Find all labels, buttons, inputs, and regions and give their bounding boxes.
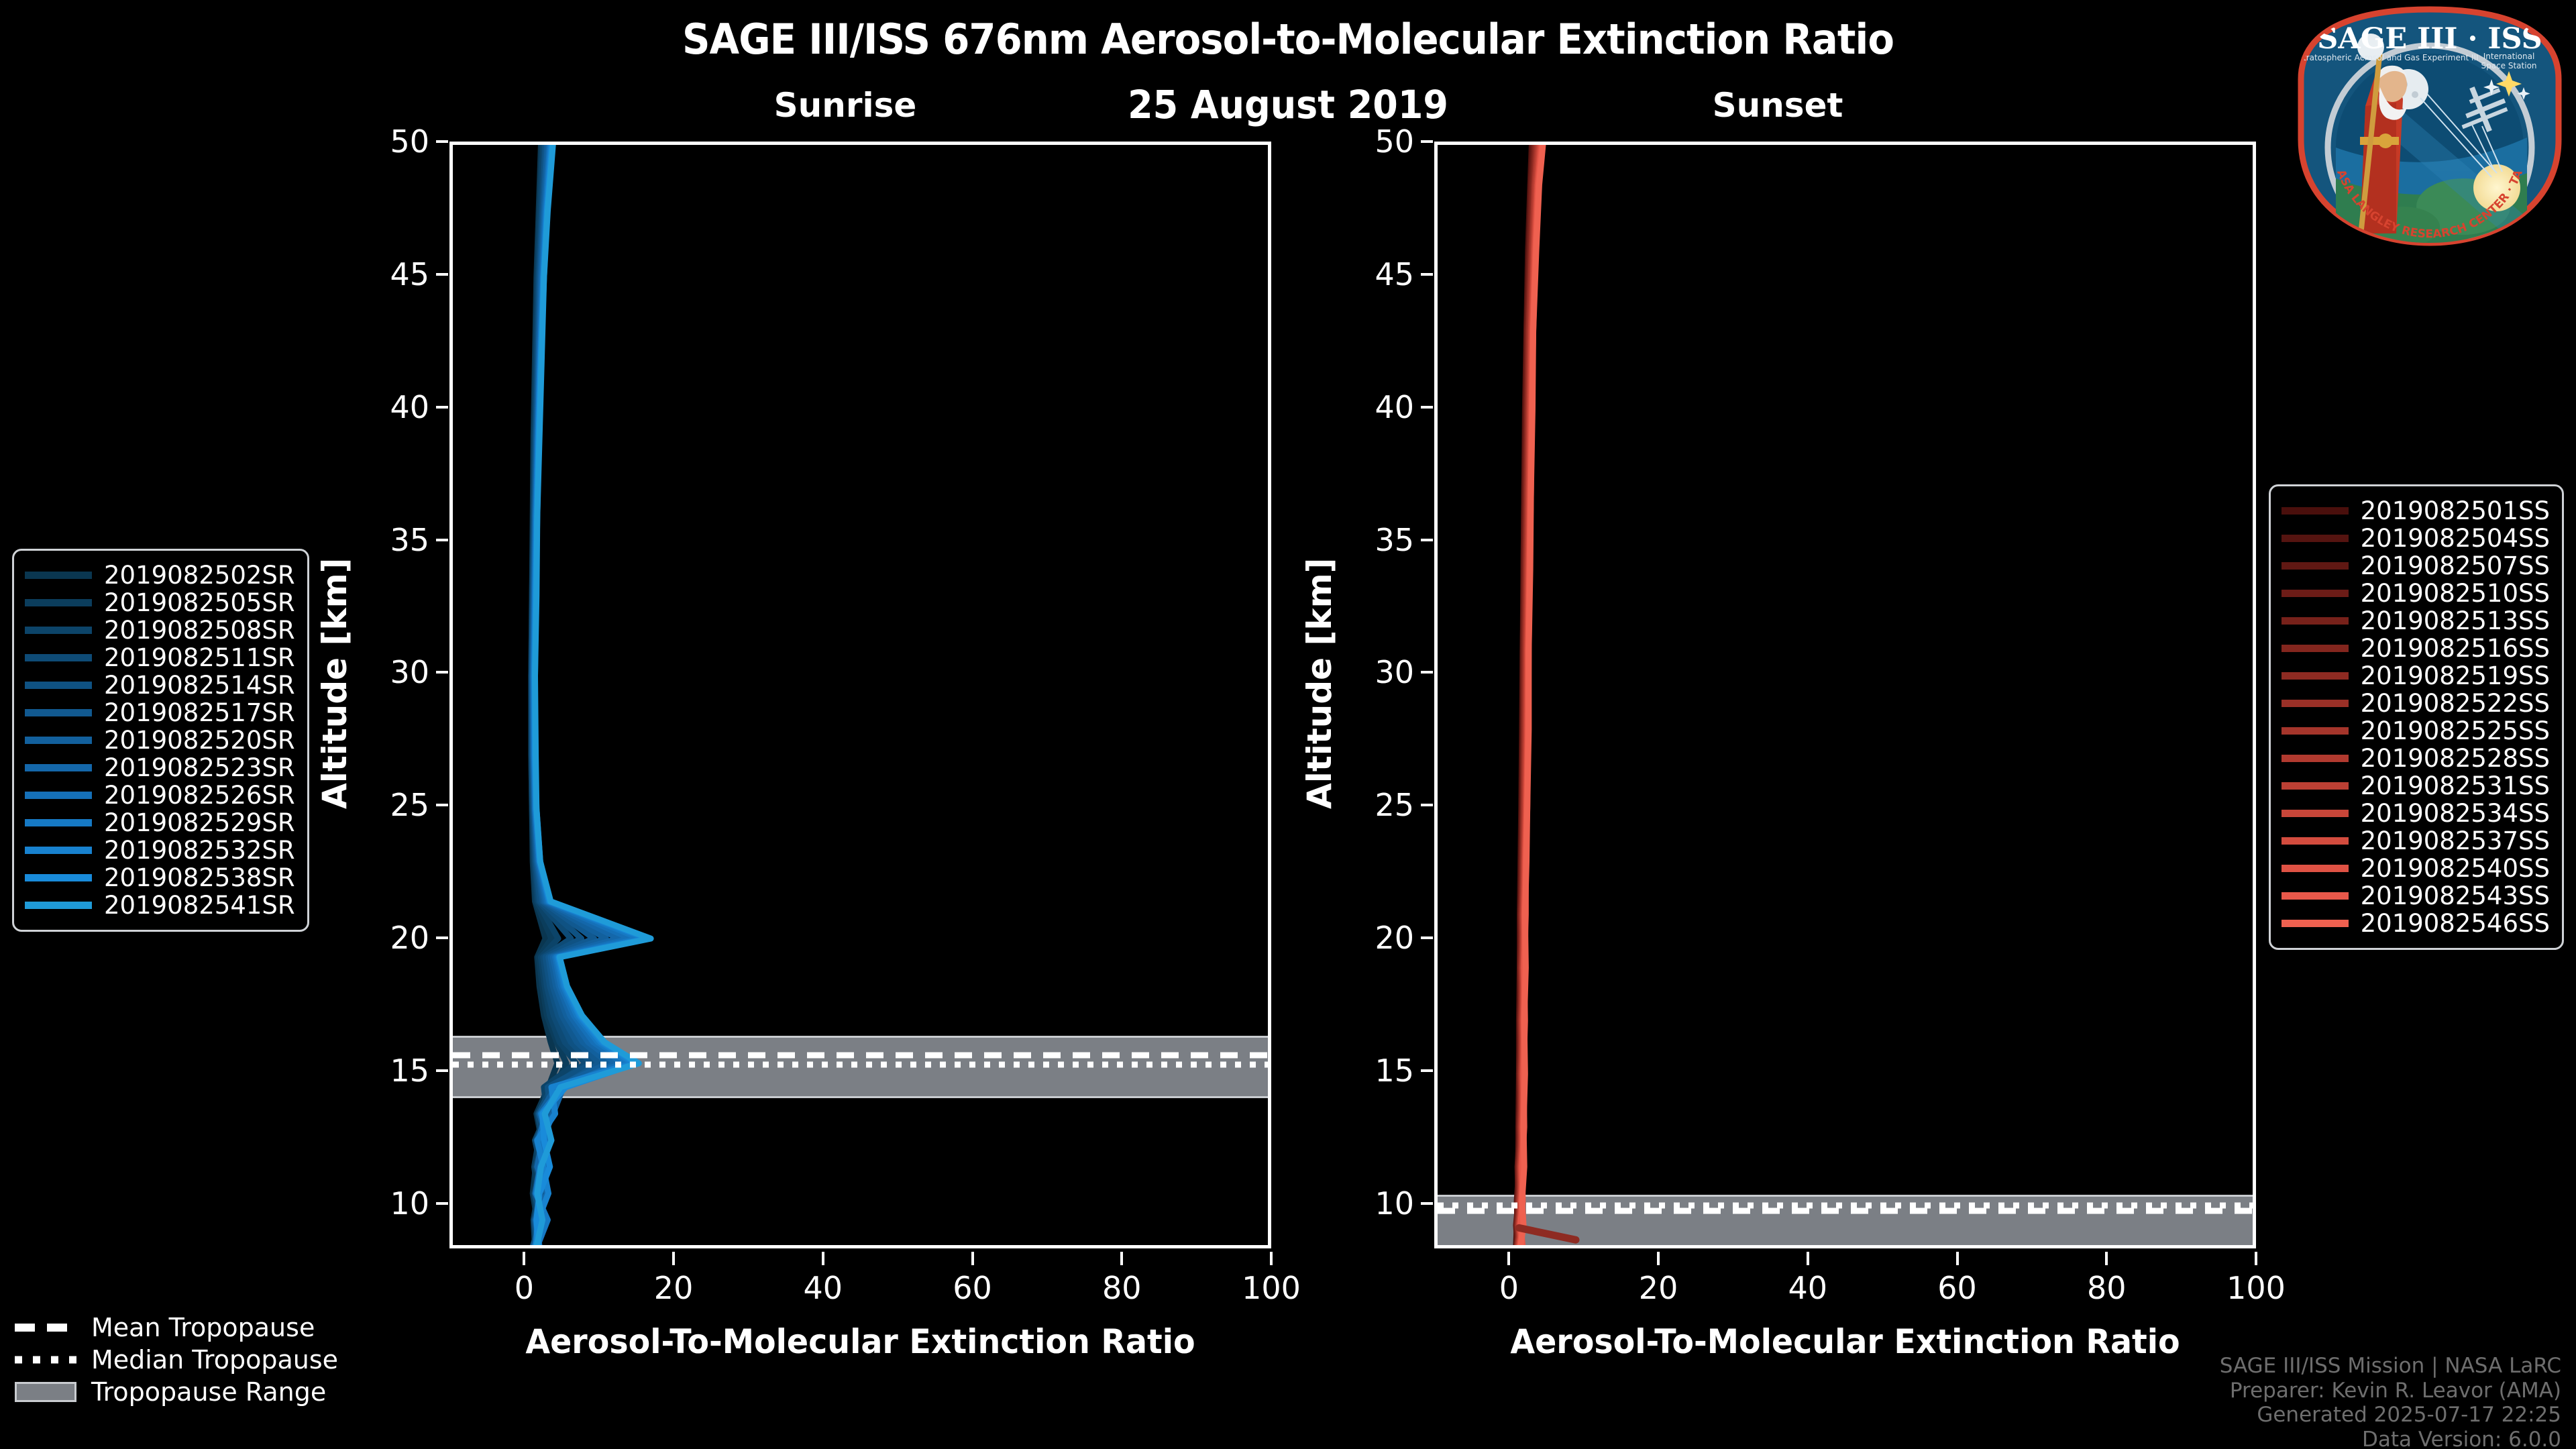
y-axis-tick-label: 10 [1344, 1185, 1414, 1222]
legend-item-label: 2019082537SS [2361, 828, 2550, 853]
legend-item-label: 2019082543SS [2361, 883, 2550, 908]
plot-panel-sunset: 101520253035404550020406080100Aerosol-To… [0, 0, 2576, 1449]
y-axis-tick-label: 35 [1344, 522, 1414, 558]
legend-item-label: 2019082541SR [104, 893, 295, 918]
legend-color-swatch [25, 819, 92, 826]
legend-item-label: 2019082511SR [104, 645, 295, 670]
legend-item[interactable]: 2019082511SR [25, 644, 295, 672]
legend-sunset-events[interactable]: 2019082501SS2019082504SS2019082507SS2019… [2269, 484, 2564, 950]
legend-item[interactable]: 2019082507SS [2282, 552, 2550, 580]
legend-item-label: 2019082529SR [104, 810, 295, 835]
y-axis-tick-label: 30 [1344, 654, 1414, 690]
legend-item-label: 2019082546SS [2361, 911, 2550, 936]
credit-generated: Generated 2025-07-17 22:25 [2220, 1403, 2561, 1428]
legend-item-label: 2019082540SS [2361, 856, 2550, 881]
x-axis-tick-mark [2105, 1252, 2108, 1265]
legend-item[interactable]: 2019082510SS [2282, 580, 2550, 607]
legend-item[interactable]: 2019082546SS [2282, 910, 2550, 937]
y-axis-title-sunset: Altitude [km] [1300, 557, 1339, 809]
legend-item-label: 2019082508SR [104, 618, 295, 643]
x-axis-tick-mark [1807, 1252, 1809, 1265]
legend-color-swatch [2282, 727, 2349, 735]
x-axis-tick-mark [1956, 1252, 1959, 1265]
legend-item[interactable]: 2019082526SR [25, 782, 295, 809]
legend-color-swatch [25, 627, 92, 634]
legend-item-label: 2019082517SR [104, 700, 295, 725]
legend-item[interactable]: 2019082534SS [2282, 800, 2550, 827]
legend-item[interactable]: 2019082517SR [25, 699, 295, 727]
legend-item-label: 2019082502SR [104, 563, 295, 588]
legend-item[interactable]: 2019082501SS [2282, 497, 2550, 525]
legend-color-swatch [25, 792, 92, 799]
series-layer-sunset [1438, 145, 2253, 1245]
y-axis-tick-mark [1421, 671, 1433, 674]
y-axis-tick-mark [1421, 936, 1433, 939]
median-tropopause-line [1438, 1202, 2253, 1208]
legend-item-label: 2019082510SS [2361, 581, 2550, 606]
legend-color-swatch [25, 737, 92, 744]
legend-item-label: 2019082531SS [2361, 773, 2550, 798]
y-axis-tick-label: 20 [1344, 920, 1414, 956]
sage-iii-iss-logo: SAGE III · ISS Stratospheric Aerosol and… [2296, 5, 2564, 247]
legend-item[interactable]: 2019082537SS [2282, 827, 2550, 855]
legend-color-swatch [2282, 617, 2349, 625]
y-axis-tick-mark [1421, 406, 1433, 409]
legend-item[interactable]: 2019082520SR [25, 727, 295, 754]
legend-item[interactable]: 2019082531SS [2282, 772, 2550, 800]
y-axis-tick-label: 15 [1344, 1053, 1414, 1089]
legend-item-median-tropopause: Median Tropopause [15, 1344, 338, 1376]
legend-item-label: 2019082528SS [2361, 746, 2550, 771]
credit-block: SAGE III/ISS Mission | NASA LaRC Prepare… [2220, 1354, 2561, 1449]
legend-item[interactable]: 2019082522SS [2282, 690, 2550, 717]
y-axis-tick-label: 40 [1344, 389, 1414, 425]
legend-item-label: 2019082532SR [104, 838, 295, 863]
legend-color-swatch [2282, 645, 2349, 652]
legend-item-label: 2019082504SS [2361, 526, 2550, 551]
plot-frame-sunset [1434, 142, 2256, 1248]
legend-item[interactable]: 2019082529SR [25, 809, 295, 837]
legend-color-swatch [25, 682, 92, 689]
y-axis-tick-mark [1421, 804, 1433, 806]
x-axis-tick-mark [2255, 1252, 2257, 1265]
x-axis-tick-label: 40 [1788, 1270, 1828, 1306]
legend-item[interactable]: 2019082514SR [25, 672, 295, 699]
legend-item[interactable]: 2019082540SS [2282, 855, 2550, 882]
y-axis-tick-label: 50 [1344, 123, 1414, 160]
legend-color-swatch [2282, 810, 2349, 817]
y-axis-tick-mark [1421, 273, 1433, 276]
legend-item-label: 2019082514SR [104, 673, 295, 698]
legend-color-swatch [25, 764, 92, 771]
credit-preparer: Preparer: Kevin R. Leavor (AMA) [2220, 1379, 2561, 1403]
legend-item[interactable]: 2019082519SS [2282, 662, 2550, 690]
logo-subtitle-left: Stratospheric Aerosol and Gas Experiment… [2298, 53, 2478, 62]
legend-item[interactable]: 2019082513SS [2282, 607, 2550, 635]
legend-item-label: 2019082505SR [104, 590, 295, 615]
x-axis-tick-label: 100 [2226, 1270, 2286, 1306]
x-axis-tick-label: 0 [1499, 1270, 1519, 1306]
legend-item[interactable]: 2019082516SS [2282, 635, 2550, 662]
legend-color-swatch [2282, 892, 2349, 900]
legend-item[interactable]: 2019082528SS [2282, 745, 2550, 772]
legend-item[interactable]: 2019082508SR [25, 616, 295, 644]
legend-item[interactable]: 2019082504SS [2282, 525, 2550, 552]
legend-color-swatch [2282, 562, 2349, 570]
x-axis-tick-mark [1657, 1252, 1660, 1265]
y-axis-tick-mark [1421, 539, 1433, 541]
logo-subtitle-right-1: International [2483, 52, 2535, 61]
legend-label-range: Tropopause Range [91, 1377, 326, 1407]
x-axis-tick-label: 20 [1639, 1270, 1678, 1306]
legend-sunrise-events[interactable]: 2019082502SR2019082505SR2019082508SR2019… [12, 549, 309, 932]
legend-color-swatch [2282, 700, 2349, 707]
legend-item-mean-tropopause: Mean Tropopause [15, 1311, 338, 1344]
legend-item[interactable]: 2019082532SR [25, 837, 295, 864]
y-axis-tick-mark [1421, 140, 1433, 143]
legend-item[interactable]: 2019082538SR [25, 864, 295, 892]
legend-color-swatch [25, 654, 92, 661]
legend-item-label: 2019082507SS [2361, 553, 2550, 578]
legend-color-swatch [2282, 920, 2349, 927]
legend-color-swatch [25, 902, 92, 909]
legend-item[interactable]: 2019082543SS [2282, 882, 2550, 910]
x-axis-tick-label: 80 [2087, 1270, 2127, 1306]
legend-item-label: 2019082534SS [2361, 801, 2550, 826]
legend-item[interactable]: 2019082502SR [25, 561, 295, 589]
legend-item[interactable]: 2019082525SS [2282, 717, 2550, 745]
legend-color-swatch [25, 599, 92, 606]
legend-item-label: 2019082538SR [104, 865, 295, 890]
legend-label-mean: Mean Tropopause [91, 1313, 315, 1342]
logo-subtitle-right-2: Space Station [2481, 61, 2536, 70]
legend-color-swatch [2282, 590, 2349, 597]
plot-area-sunset [1438, 145, 2253, 1245]
figure-canvas: SAGE III/ISS 676nm Aerosol-to-Molecular … [0, 0, 2576, 1449]
legend-color-swatch [25, 709, 92, 716]
x-axis-tick-mark [1507, 1252, 1510, 1265]
series-outlier-segment [1519, 1228, 1576, 1240]
credit-mission: SAGE III/ISS Mission | NASA LaRC [2220, 1354, 2561, 1379]
legend-color-swatch [25, 847, 92, 854]
legend-item-label: 2019082519SS [2361, 663, 2550, 688]
legend-color-swatch [2282, 535, 2349, 542]
legend-color-swatch [2282, 782, 2349, 790]
logo-title-text: SAGE III · ISS [2317, 22, 2542, 56]
legend-tropopause: Mean Tropopause Median Tropopause Tropop… [15, 1311, 338, 1408]
x-axis-title-sunset: Aerosol-To-Molecular Extinction Ratio [1455, 1322, 2236, 1361]
legend-color-swatch [25, 572, 92, 579]
legend-item-tropopause-range: Tropopause Range [15, 1376, 338, 1408]
legend-color-swatch [2282, 865, 2349, 872]
legend-label-median: Median Tropopause [91, 1345, 338, 1375]
legend-item-label: 2019082523SR [104, 755, 295, 780]
y-axis-tick-label: 45 [1344, 256, 1414, 292]
legend-item-label: 2019082522SS [2361, 691, 2550, 716]
filled-band-icon [15, 1377, 76, 1407]
legend-color-swatch [2282, 507, 2349, 515]
x-axis-tick-label: 60 [1937, 1270, 1977, 1306]
legend-item[interactable]: 2019082541SR [25, 892, 295, 919]
legend-color-swatch [2282, 672, 2349, 680]
y-axis-tick-mark [1421, 1069, 1433, 1072]
legend-item-label: 2019082516SS [2361, 636, 2550, 661]
legend-item-label: 2019082520SR [104, 728, 295, 753]
dotted-line-icon [15, 1344, 76, 1375]
legend-color-swatch [2282, 837, 2349, 845]
legend-item-label: 2019082526SR [104, 783, 295, 808]
legend-color-swatch [2282, 755, 2349, 762]
legend-color-swatch [25, 874, 92, 881]
legend-item-label: 2019082501SS [2361, 498, 2550, 523]
mean-tropopause-line [1438, 1207, 2253, 1214]
y-axis-tick-label: 25 [1344, 787, 1414, 823]
legend-item-label: 2019082513SS [2361, 608, 2550, 633]
legend-item-label: 2019082525SS [2361, 718, 2550, 743]
dashed-line-icon [15, 1312, 76, 1343]
credit-version: Data Version: 6.0.0 [2220, 1428, 2561, 1449]
y-axis-tick-mark [1421, 1202, 1433, 1205]
legend-item[interactable]: 2019082505SR [25, 589, 295, 616]
legend-item[interactable]: 2019082523SR [25, 754, 295, 782]
